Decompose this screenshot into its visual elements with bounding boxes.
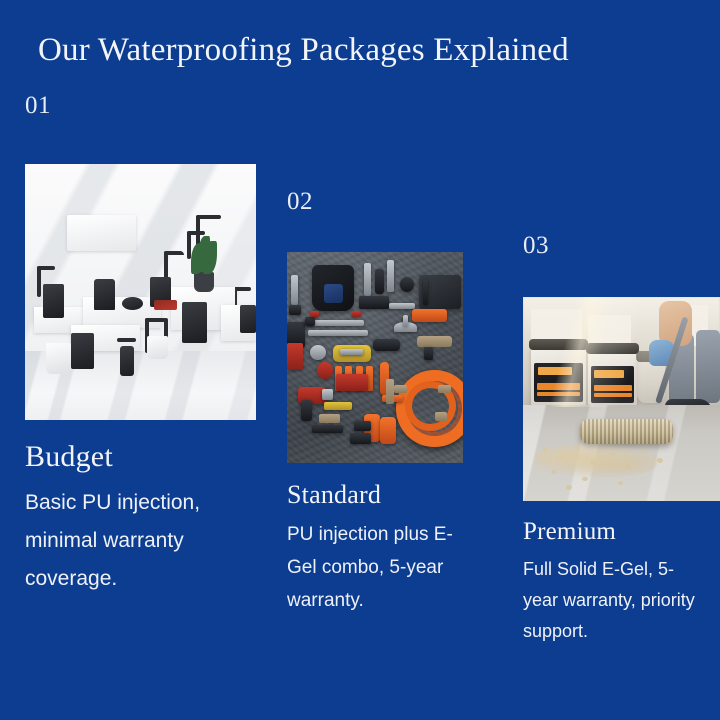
bucket-label-brand-2: [594, 370, 624, 378]
machine-body: [287, 343, 303, 370]
bucket-label-1: [534, 363, 583, 402]
bucket-label-bar-1: [537, 383, 580, 389]
frame-stand-horizontal: [145, 318, 166, 322]
equipment-unit-4: [182, 302, 207, 343]
drill-bit-3: [387, 260, 394, 292]
aggregate-11: [618, 481, 623, 485]
wall-pipe-8: [233, 287, 251, 291]
bucket-label-2: [591, 366, 634, 403]
bucket-lid-2: [586, 343, 639, 354]
egel-bucket-1: [531, 346, 586, 411]
packer-tool-1: [291, 275, 298, 305]
wall-hood: [67, 215, 136, 251]
wall-pipe-5: [37, 266, 41, 297]
drill-bit-1: [364, 263, 371, 297]
sprayer-bottle: [120, 346, 134, 377]
injection-gun-2: [380, 417, 396, 444]
bucket-2: [147, 336, 168, 359]
slide-canvas: Our Waterproofing Packages Explained 01: [0, 0, 720, 720]
tool-bag-logo: [324, 284, 343, 303]
package-body-standard: PU injection plus E-Gel combo, 5-year wa…: [287, 518, 465, 617]
package-image-premium: [523, 297, 720, 501]
valve-knob: [317, 362, 333, 379]
bucket-label-brand-1: [538, 367, 572, 376]
abrasive-block: [386, 379, 395, 404]
aggregate-10: [582, 477, 588, 481]
equipment-unit-6: [240, 305, 256, 333]
funnel-stem: [403, 315, 408, 326]
egel-bucket-2: [588, 350, 637, 411]
caulk-gun-barrel: [417, 336, 452, 347]
rod-tip-2: [352, 311, 361, 317]
extension-rod: [389, 303, 415, 309]
injection-gun-barrel-1: [354, 421, 372, 432]
package-body-premium: Full Solid E-Gel, 5-year warranty, prior…: [523, 554, 703, 647]
rod-tip-1: [310, 311, 319, 317]
package-heading-budget: Budget: [25, 440, 275, 474]
chisel-3: [312, 425, 344, 433]
package-image-budget: [25, 164, 256, 420]
package-number-01: 01: [25, 92, 275, 120]
wall-pipe-2: [196, 215, 221, 219]
worker-leg-right: [696, 330, 720, 403]
rod-handle-1: [305, 317, 316, 325]
package-card-standard[interactable]: 02: [287, 188, 483, 617]
coil-strap-1: [394, 385, 406, 393]
injection-gun-barrel-2: [350, 433, 371, 444]
packer-tool-2: [289, 305, 301, 316]
hose-curve-top: [164, 251, 185, 255]
equipment-unit-red: [154, 300, 177, 310]
coupling-block: [122, 297, 143, 310]
equipment-unit-2: [94, 279, 115, 310]
drill-bit-2: [375, 269, 384, 294]
page-title: Our Waterproofing Packages Explained: [38, 29, 688, 71]
wall-pipe-3: [187, 231, 191, 259]
bucket-1: [46, 343, 71, 374]
package-heading-premium: Premium: [523, 517, 720, 546]
wall-pipe-6: [37, 266, 55, 270]
pressure-gauge: [310, 345, 326, 360]
paint-roller-overlay: [580, 419, 673, 443]
package-body-budget: Basic PU injection, minimal warranty cov…: [25, 484, 257, 598]
coil-strap-3: [435, 412, 447, 420]
chisel-2: [319, 414, 340, 422]
grip-tool: [373, 339, 399, 352]
package-card-premium[interactable]: 03: [523, 232, 720, 647]
cartridge-box: [336, 374, 368, 391]
aggregate-12: [566, 485, 572, 490]
bucket-label-bar-3: [594, 385, 632, 391]
tool-case-latch: [423, 279, 428, 304]
package-number-03: 03: [523, 232, 720, 260]
chisel-1: [324, 402, 352, 410]
caulk-gun-handle: [424, 347, 433, 360]
equipment-unit-1: [43, 284, 64, 317]
drill-grip: [301, 400, 312, 421]
aggregate-bed: [535, 444, 657, 477]
grooved-plate: [412, 309, 447, 322]
nozzle-head: [359, 296, 389, 309]
sprayer-trigger: [117, 338, 135, 342]
package-image-standard: [287, 252, 463, 463]
bucket-lid-1: [529, 339, 589, 350]
package-card-budget[interactable]: 01: [25, 92, 275, 598]
wall-pipe-4: [187, 231, 205, 235]
bucket-label-bar-2: [537, 392, 580, 396]
bucket-label-bar-4: [594, 393, 632, 397]
canister-label: [340, 349, 363, 355]
plant-pot: [194, 272, 215, 292]
equipment-unit-5: [71, 333, 94, 369]
coil-puck: [400, 277, 414, 292]
coil-strap-2: [438, 385, 450, 393]
steel-rod-2: [308, 330, 368, 336]
drill-chuck: [322, 389, 333, 400]
package-heading-standard: Standard: [287, 480, 483, 510]
package-number-02: 02: [287, 188, 483, 216]
